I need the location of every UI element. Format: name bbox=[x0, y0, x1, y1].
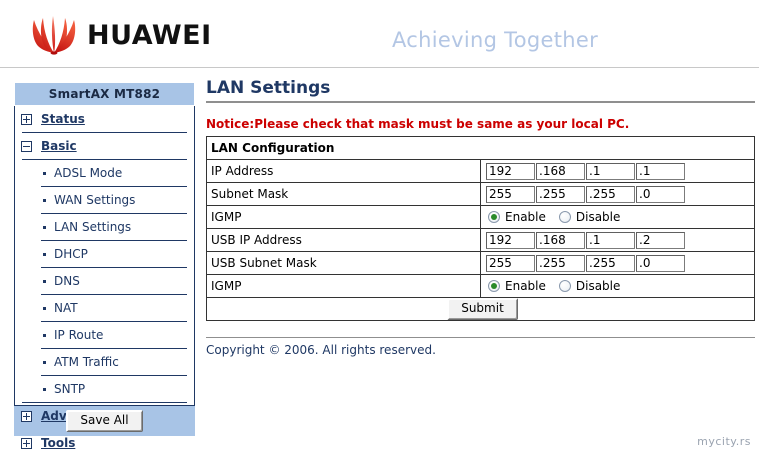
brand-slogan: Achieving Together bbox=[392, 28, 598, 52]
row-label: USB Subnet Mask bbox=[207, 252, 481, 275]
row-value: Enable Disable bbox=[481, 275, 755, 298]
sidebar-item-ip-route[interactable]: IP Route bbox=[15, 322, 194, 348]
radio-enable[interactable] bbox=[488, 211, 500, 223]
row-label: IGMP bbox=[207, 206, 481, 229]
table-row-igmp-lan: IGMP Enable Disable bbox=[207, 206, 755, 229]
section-header-label: LAN Configuration bbox=[207, 137, 755, 160]
radio-disable-label: Disable bbox=[576, 279, 621, 293]
ip-octet-1[interactable] bbox=[486, 255, 535, 272]
ip-octet-3[interactable] bbox=[586, 163, 635, 180]
ip-octet-1[interactable] bbox=[486, 232, 535, 249]
ip-octet-2[interactable] bbox=[536, 255, 585, 272]
table-row-igmp-usb: IGMP Enable Disable bbox=[207, 275, 755, 298]
notice-message: Notice:Please check that mask must be sa… bbox=[206, 117, 755, 131]
sidebar: SmartAX MT882 Status Basic ADSL Mode WAN… bbox=[14, 82, 195, 438]
row-label: IGMP bbox=[207, 275, 481, 298]
ip-octet-4[interactable] bbox=[636, 163, 685, 180]
bullet-icon bbox=[43, 199, 46, 202]
page-title: LAN Settings bbox=[206, 78, 755, 101]
brand-logo: HUAWEI bbox=[28, 14, 218, 56]
bullet-icon bbox=[43, 307, 46, 310]
title-divider bbox=[206, 101, 755, 103]
radio-disable[interactable] bbox=[559, 211, 571, 223]
bullet-icon bbox=[43, 388, 46, 391]
row-value bbox=[481, 252, 755, 275]
sidebar-item-label: DHCP bbox=[54, 247, 88, 261]
sidebar-item-sntp[interactable]: SNTP bbox=[15, 376, 194, 402]
copyright-text: Copyright © 2006. All rights reserved. bbox=[206, 338, 755, 357]
watermark: mycity.rs bbox=[697, 435, 751, 448]
bullet-icon bbox=[43, 172, 46, 175]
bullet-icon bbox=[43, 226, 46, 229]
sidebar-item-dhcp[interactable]: DHCP bbox=[15, 241, 194, 267]
table-submit-row: Submit bbox=[207, 298, 755, 321]
ip-octet-4[interactable] bbox=[636, 186, 685, 203]
sidebar-item-wan-settings[interactable]: WAN Settings bbox=[15, 187, 194, 213]
ip-octet-4[interactable] bbox=[636, 255, 685, 272]
ip-octet-3[interactable] bbox=[586, 232, 635, 249]
radio-enable-label: Enable bbox=[505, 210, 546, 224]
save-all-button[interactable]: Save All bbox=[66, 410, 142, 431]
submit-button[interactable]: Submit bbox=[447, 298, 518, 319]
brand-wordmark: HUAWEI bbox=[87, 22, 212, 49]
sidebar-item-label: WAN Settings bbox=[54, 193, 135, 207]
bullet-icon bbox=[43, 280, 46, 283]
igmp-radio-group: Enable Disable bbox=[485, 210, 754, 224]
row-label: USB IP Address bbox=[207, 229, 481, 252]
ip-octet-group bbox=[485, 232, 754, 249]
row-value bbox=[481, 183, 755, 206]
row-label: IP Address bbox=[207, 160, 481, 183]
page-header: HUAWEI Achieving Together bbox=[0, 0, 759, 68]
plus-box-icon[interactable] bbox=[21, 438, 32, 449]
sidebar-item-label: ADSL Mode bbox=[54, 166, 122, 180]
bullet-icon bbox=[43, 361, 46, 364]
ip-octet-3[interactable] bbox=[586, 255, 635, 272]
sidebar-item-label: SNTP bbox=[54, 382, 85, 396]
sidebar-item-atm-traffic[interactable]: ATM Traffic bbox=[15, 349, 194, 375]
huawei-flower-logo-icon bbox=[28, 15, 80, 55]
row-value bbox=[481, 160, 755, 183]
lan-configuration-table: LAN Configuration IP Address Subnet Mask bbox=[206, 136, 755, 321]
ip-octet-group bbox=[485, 163, 754, 180]
sidebar-item-status[interactable]: Status bbox=[15, 106, 194, 132]
table-section-header-row: LAN Configuration bbox=[207, 137, 755, 160]
sidebar-item-label: IP Route bbox=[54, 328, 103, 342]
row-value: Enable Disable bbox=[481, 206, 755, 229]
sidebar-item-nat[interactable]: NAT bbox=[15, 295, 194, 321]
radio-enable[interactable] bbox=[488, 280, 500, 292]
sidebar-item-label: Status bbox=[41, 112, 85, 126]
sidebar-item-lan-settings[interactable]: LAN Settings bbox=[15, 214, 194, 240]
table-row-usb-subnet-mask: USB Subnet Mask bbox=[207, 252, 755, 275]
ip-octet-3[interactable] bbox=[586, 186, 635, 203]
ip-octet-2[interactable] bbox=[536, 186, 585, 203]
sidebar-item-label: Basic bbox=[41, 139, 77, 153]
radio-enable-label: Enable bbox=[505, 279, 546, 293]
sidebar-item-label: LAN Settings bbox=[54, 220, 131, 234]
sidebar-item-adsl-mode[interactable]: ADSL Mode bbox=[15, 160, 194, 186]
ip-octet-1[interactable] bbox=[486, 163, 535, 180]
igmp-radio-group: Enable Disable bbox=[485, 279, 754, 293]
main-content: LAN Settings Notice:Please check that ma… bbox=[206, 78, 755, 357]
ip-octet-4[interactable] bbox=[636, 232, 685, 249]
table-row-subnet-mask: Subnet Mask bbox=[207, 183, 755, 206]
ip-octet-1[interactable] bbox=[486, 186, 535, 203]
sidebar-item-label: NAT bbox=[54, 301, 78, 315]
sidebar-item-dns[interactable]: DNS bbox=[15, 268, 194, 294]
ip-octet-2[interactable] bbox=[536, 163, 585, 180]
sidebar-item-label: ATM Traffic bbox=[54, 355, 119, 369]
sidebar-item-basic[interactable]: Basic bbox=[15, 133, 194, 159]
submit-cell: Submit bbox=[207, 298, 755, 321]
ip-octet-group bbox=[485, 255, 754, 272]
device-model-title: SmartAX MT882 bbox=[14, 82, 195, 106]
row-label: Subnet Mask bbox=[207, 183, 481, 206]
radio-disable[interactable] bbox=[559, 280, 571, 292]
bullet-icon bbox=[43, 334, 46, 337]
bullet-icon bbox=[43, 253, 46, 256]
sidebar-item-label: Tools bbox=[41, 436, 75, 450]
plus-box-icon[interactable] bbox=[21, 411, 32, 422]
ip-octet-group bbox=[485, 186, 754, 203]
table-row-usb-ip-address: USB IP Address bbox=[207, 229, 755, 252]
sidebar-item-label: DNS bbox=[54, 274, 80, 288]
minus-box-icon[interactable] bbox=[21, 141, 32, 152]
sidebar-nav: Status Basic ADSL Mode WAN Settings LAN … bbox=[14, 106, 195, 406]
plus-box-icon[interactable] bbox=[21, 114, 32, 125]
table-row-ip-address: IP Address bbox=[207, 160, 755, 183]
radio-disable-label: Disable bbox=[576, 210, 621, 224]
row-value bbox=[481, 229, 755, 252]
ip-octet-2[interactable] bbox=[536, 232, 585, 249]
